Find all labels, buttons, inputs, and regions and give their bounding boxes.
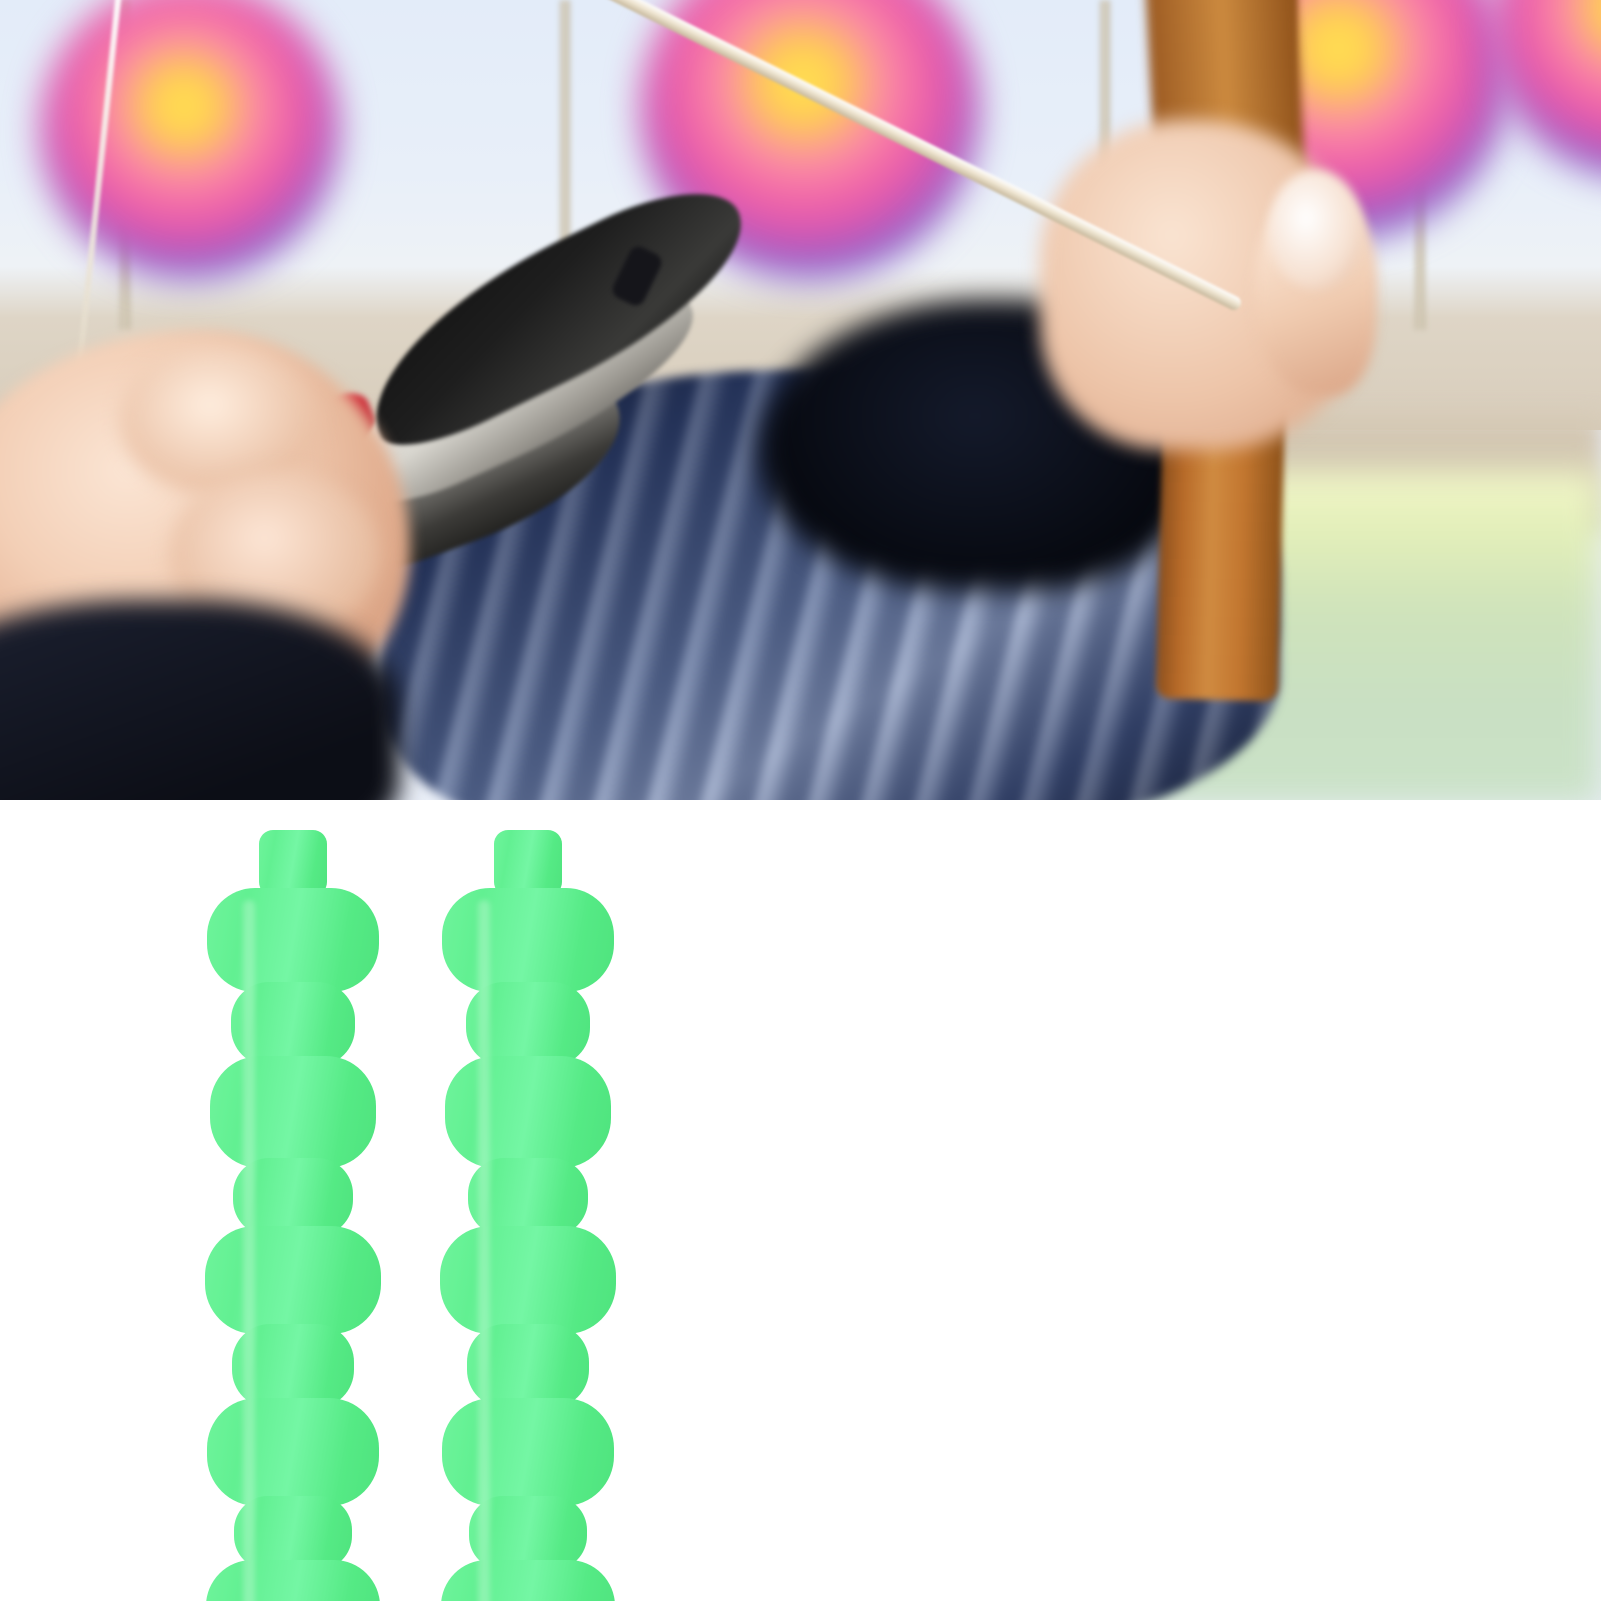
silencer-ridge bbox=[207, 1398, 379, 1506]
silencer-highlight bbox=[243, 900, 255, 1601]
product-feature-panel: Made of rubber material for good durabil… bbox=[0, 800, 1601, 1601]
silencer-ridge bbox=[210, 1056, 376, 1168]
silencer-highlight bbox=[478, 900, 490, 1601]
silencer-ridge bbox=[494, 830, 562, 896]
silencer-ridge bbox=[442, 888, 614, 992]
silencer-ridge bbox=[445, 1056, 611, 1168]
silencer-ridge bbox=[259, 830, 327, 896]
silencer-ridge bbox=[206, 1560, 380, 1601]
silencer-ridge bbox=[440, 1226, 616, 1334]
archery-lifestyle-photo bbox=[0, 0, 1601, 800]
bow-hand-thumb bbox=[1268, 170, 1363, 290]
silencer-right bbox=[438, 830, 618, 1601]
product-listing-image: Made of rubber material for good durabil… bbox=[0, 0, 1601, 1601]
dark-sleeve-left bbox=[0, 600, 400, 800]
silencer-ridge bbox=[442, 1398, 614, 1506]
silencer-ridge bbox=[205, 1226, 381, 1334]
silencer-left bbox=[203, 830, 383, 1601]
silencer-ridge bbox=[207, 888, 379, 992]
silencer-ridge bbox=[441, 1560, 615, 1601]
